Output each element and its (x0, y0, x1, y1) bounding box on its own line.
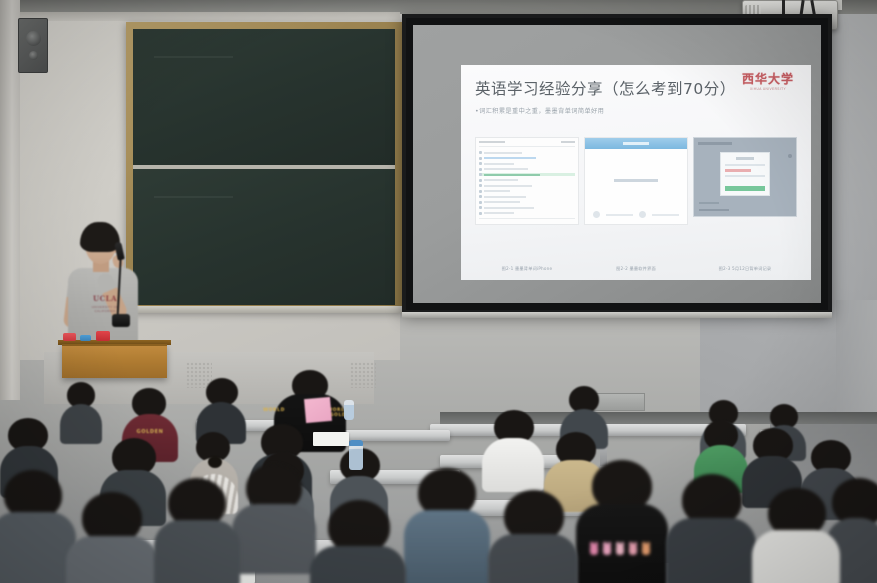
thumbnail-blue-header-page (584, 137, 688, 225)
modal-dialog (720, 152, 770, 196)
student-body (666, 518, 756, 583)
water-bottle-cap-a (349, 440, 363, 446)
desk-item-red-box (96, 331, 110, 341)
shirt-print-text: GOLDEN (122, 430, 178, 436)
app-divider (479, 146, 575, 147)
logo-chinese-text: 西华大学 (735, 73, 801, 86)
hair-bun (208, 456, 222, 468)
list-item (479, 184, 575, 188)
list-item (479, 189, 575, 193)
student-body (488, 534, 578, 583)
list-item (479, 151, 575, 155)
desk-item-red-marker-box (63, 333, 76, 341)
page-body (614, 149, 658, 211)
student-back-1 (60, 382, 102, 442)
modal-window-title (698, 142, 732, 145)
student-front-5 (310, 500, 406, 583)
list-item (479, 200, 575, 204)
list-item (479, 211, 575, 215)
blackboard-panel-lower (133, 169, 395, 305)
student-front-3 (154, 478, 240, 583)
student-white-shirt (482, 410, 544, 490)
app-footer-divider (479, 218, 575, 219)
desk-item-blue (80, 335, 91, 341)
list-item (479, 206, 575, 210)
paper-sheet-a (313, 432, 349, 446)
student-body (60, 404, 102, 444)
logo-english-text: XIHUA UNIVERSITY (735, 87, 801, 91)
speaker-cone (26, 31, 41, 46)
student-body (404, 510, 490, 583)
student-body (66, 536, 158, 583)
blackboard-surface (133, 29, 395, 305)
lecture-hall-photo: 西华大学 XIHUA UNIVERSITY 英语学习经验分享（怎么考到70分） … (0, 0, 877, 583)
list-item (479, 195, 575, 199)
student-front-8 (752, 488, 840, 583)
bear-print-5 (642, 544, 650, 555)
water-bottle-a (349, 444, 363, 470)
student-body (232, 504, 316, 574)
modal-footer-line-a (699, 202, 719, 204)
ceiling-trim (0, 12, 400, 21)
student-front-4 (232, 464, 316, 569)
pink-paper-sheet (304, 397, 332, 423)
student-body (576, 504, 668, 583)
modal-footer-line-b (699, 209, 729, 211)
student-body (154, 520, 240, 583)
blue-header-page-screenshot (584, 137, 688, 225)
modal-side-dot (788, 154, 792, 158)
presenter-shirt-text: UCLA UNIVERSITY OF CALIFORNIA (84, 294, 126, 313)
list-item (479, 178, 575, 182)
microphone-transmitter (112, 314, 130, 327)
water-bottle-b (344, 400, 354, 420)
wall-speaker-icon (18, 18, 48, 73)
slide-bullet-text: 词汇积累是重中之重，墨墨背单词简单好用 (475, 106, 797, 115)
bear-print-4 (629, 544, 637, 555)
page-header-bar (585, 138, 687, 149)
slide-thumbnails (475, 137, 797, 225)
wall-speaker-grille-right (350, 362, 376, 388)
student-body (752, 530, 840, 583)
dialog-modal-screenshot (693, 137, 797, 217)
student-front-2 (66, 492, 158, 583)
speaker-cone-small (29, 51, 38, 60)
list-item (479, 156, 575, 160)
app-header (479, 141, 575, 143)
student-front-7 (666, 474, 756, 583)
student-front-6 (488, 490, 578, 583)
projection-screen: 西华大学 XIHUA UNIVERSITY 英语学习经验分享（怎么考到70分） … (402, 14, 832, 314)
screen-bottom-bar (402, 312, 832, 318)
student-body (310, 546, 406, 583)
list-item-selected (479, 173, 575, 177)
student-body (482, 438, 544, 492)
caption-2: 图2-2 墨墨软件界面 (584, 266, 688, 272)
bear-print-1 (590, 544, 598, 555)
presenter-hair (80, 222, 120, 252)
blackboard (126, 22, 402, 312)
wall-corner-pillar (0, 0, 20, 400)
thumbnail-dialog-modal (693, 137, 797, 217)
bear-print-3 (616, 544, 624, 555)
university-logo: 西华大学 XIHUA UNIVERSITY (735, 73, 801, 91)
screen-surface: 西华大学 XIHUA UNIVERSITY 英语学习经验分享（怎么考到70分） … (413, 25, 821, 303)
caption-3: 图2-3 5月12日背单词记录 (693, 266, 797, 272)
thumbnail-word-list-app (475, 137, 579, 225)
student-bear-print-tee (576, 460, 668, 583)
student-body (0, 512, 76, 583)
page-footer (585, 211, 687, 224)
word-list-app-screenshot (475, 137, 579, 225)
bear-print-2 (603, 544, 611, 555)
thumbnail-captions: 图2-1 墨墨背单词iPhone 图2-2 墨墨软件界面 图2-3 5月12日背… (475, 266, 797, 272)
presentation-slide: 西华大学 XIHUA UNIVERSITY 英语学习经验分享（怎么考到70分） … (461, 65, 811, 280)
caption-1: 图2-1 墨墨背单词iPhone (475, 266, 579, 272)
shirt-print-left: WORLD (254, 408, 294, 413)
student-front-1 (0, 470, 76, 583)
student-blue-grey-shirt (404, 468, 490, 583)
chalk-rail (126, 306, 402, 313)
list-item (479, 167, 575, 171)
list-item (479, 162, 575, 166)
podium (62, 344, 167, 378)
blackboard-panel-upper (133, 29, 395, 169)
shirt-text-line2: UNIVERSITY OF CALIFORNIA (84, 305, 126, 313)
